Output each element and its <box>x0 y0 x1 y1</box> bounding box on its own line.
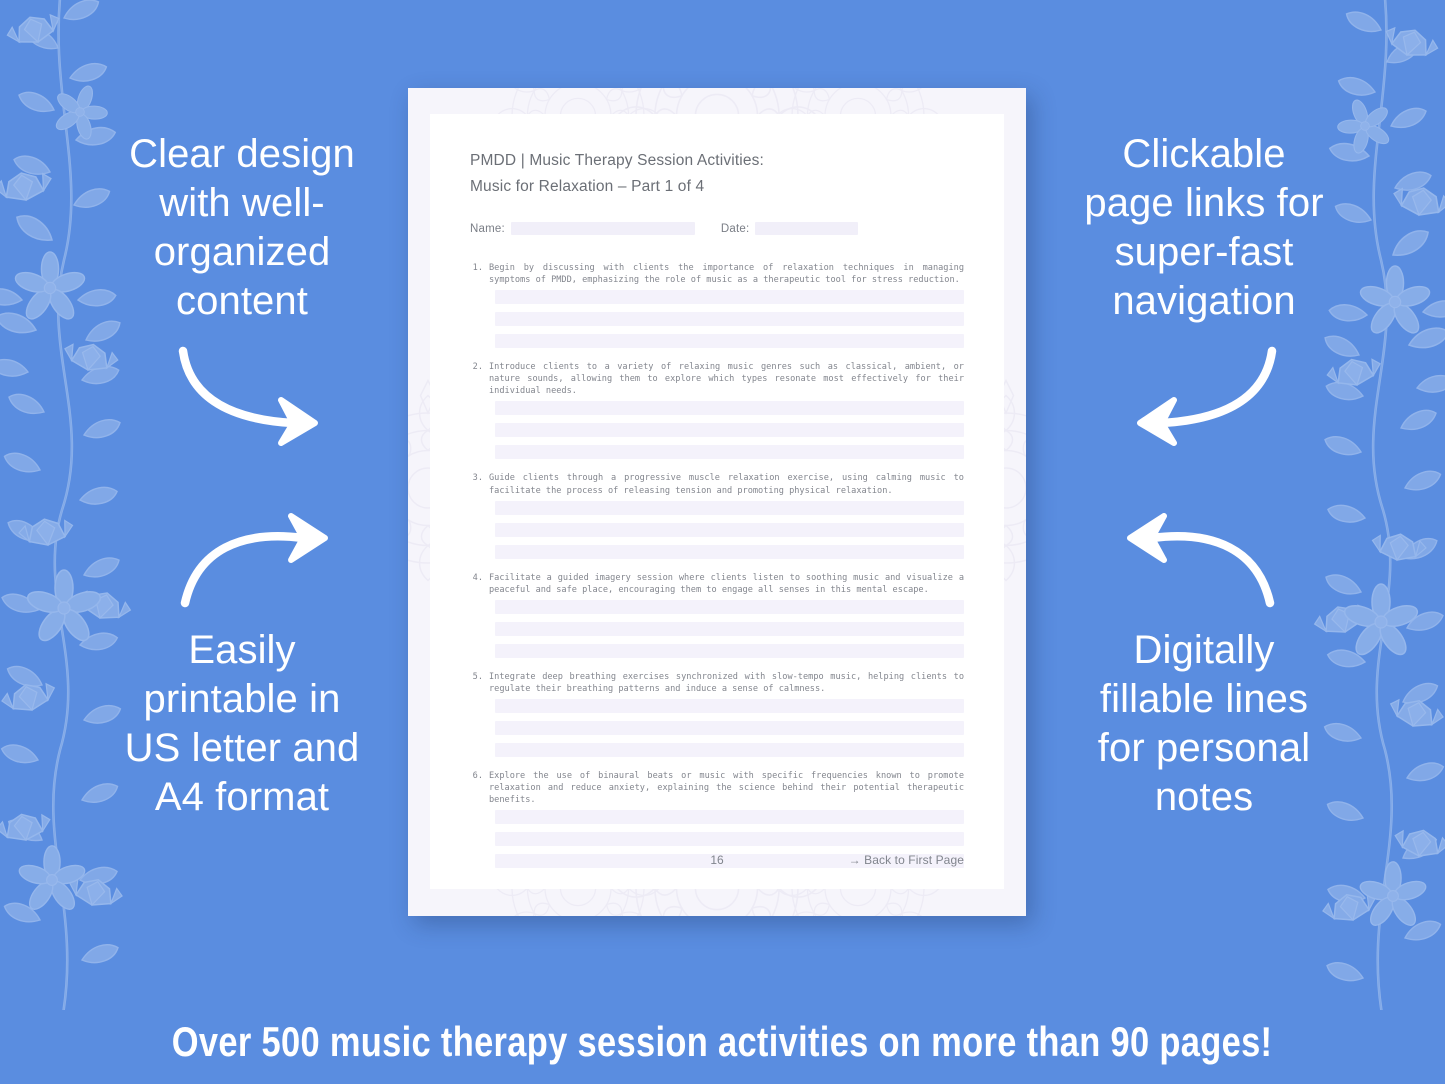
document-footer: 16 → Back to First Page <box>470 853 964 867</box>
document-frame: PMDD | Music Therapy Session Activities:… <box>408 88 1026 916</box>
fill-line[interactable] <box>495 545 964 559</box>
fill-line[interactable] <box>495 523 964 537</box>
name-input[interactable] <box>511 222 695 235</box>
fill-lines-group <box>495 501 964 559</box>
document-page: PMDD | Music Therapy Session Activities:… <box>430 114 1004 889</box>
curved-arrow-icon-top-left <box>175 345 360 450</box>
fill-line[interactable] <box>495 445 964 459</box>
fill-line[interactable] <box>495 699 964 713</box>
name-date-row: Name: Date: <box>470 222 964 235</box>
curved-arrow-icon-top-right <box>1095 345 1280 450</box>
document-title: PMDD | Music Therapy Session Activities:… <box>470 148 964 200</box>
fill-line[interactable] <box>495 290 964 304</box>
activity-item: 1. Begin by discussing with clients the … <box>470 262 964 348</box>
name-label: Name: <box>470 223 505 235</box>
fill-line[interactable] <box>495 600 964 614</box>
activity-text: Guide clients through a progressive musc… <box>489 472 964 496</box>
activity-text: Introduce clients to a variety of relaxi… <box>489 361 964 397</box>
activity-text: Facilitate a guided imagery session wher… <box>489 572 964 596</box>
curved-arrow-icon-bottom-left <box>175 508 360 610</box>
banner-text: Over 500 music therapy session activitie… <box>172 1018 1273 1066</box>
fill-line[interactable] <box>495 644 964 658</box>
activity-number: 3. <box>470 472 489 484</box>
promo-easily-printable: Easily printable in US letter and A4 for… <box>92 626 392 822</box>
fill-line[interactable] <box>495 721 964 735</box>
promo-clear-design: Clear design with well- organized conten… <box>92 130 392 326</box>
document-title-line-2: Music for Relaxation – Part 1 of 4 <box>470 174 964 200</box>
fill-lines-group <box>495 699 964 757</box>
activity-item: 3. Guide clients through a progressive m… <box>470 472 964 558</box>
activity-list: 1. Begin by discussing with clients the … <box>470 262 964 868</box>
activity-text: Begin by discussing with clients the imp… <box>489 262 964 286</box>
activity-item: 2. Introduce clients to a variety of rel… <box>470 361 964 459</box>
bottom-banner: Over 500 music therapy session activitie… <box>0 1000 1445 1084</box>
promo-fillable-lines: Digitally fillable lines for personal no… <box>1054 626 1354 822</box>
fill-lines-group <box>495 401 964 459</box>
activity-item: 5. Integrate deep breathing exercises sy… <box>470 671 964 757</box>
curved-arrow-icon-bottom-right <box>1095 508 1280 610</box>
activity-number: 6. <box>470 770 489 782</box>
fill-line[interactable] <box>495 423 964 437</box>
fill-line[interactable] <box>495 810 964 824</box>
activity-text: Integrate deep breathing exercises synch… <box>489 671 964 695</box>
fill-line[interactable] <box>495 312 964 326</box>
document-title-line-1: PMDD | Music Therapy Session Activities: <box>470 148 964 174</box>
promo-clickable-links: Clickable page links for super-fast navi… <box>1054 130 1354 326</box>
activity-item: 4. Facilitate a guided imagery session w… <box>470 572 964 658</box>
back-to-first-page-link[interactable]: → Back to First Page <box>849 853 964 867</box>
date-input[interactable] <box>755 222 858 235</box>
activity-number: 2. <box>470 361 489 373</box>
activity-number: 4. <box>470 572 489 584</box>
activity-number: 5. <box>470 671 489 683</box>
fill-line[interactable] <box>495 334 964 348</box>
fill-line[interactable] <box>495 501 964 515</box>
fill-line[interactable] <box>495 832 964 846</box>
date-label: Date: <box>721 223 750 235</box>
fill-lines-group <box>495 290 964 348</box>
fill-line[interactable] <box>495 622 964 636</box>
activity-number: 1. <box>470 262 489 274</box>
fill-line[interactable] <box>495 401 964 415</box>
fill-line[interactable] <box>495 743 964 757</box>
fill-lines-group <box>495 600 964 658</box>
activity-text: Explore the use of binaural beats or mus… <box>489 770 964 806</box>
